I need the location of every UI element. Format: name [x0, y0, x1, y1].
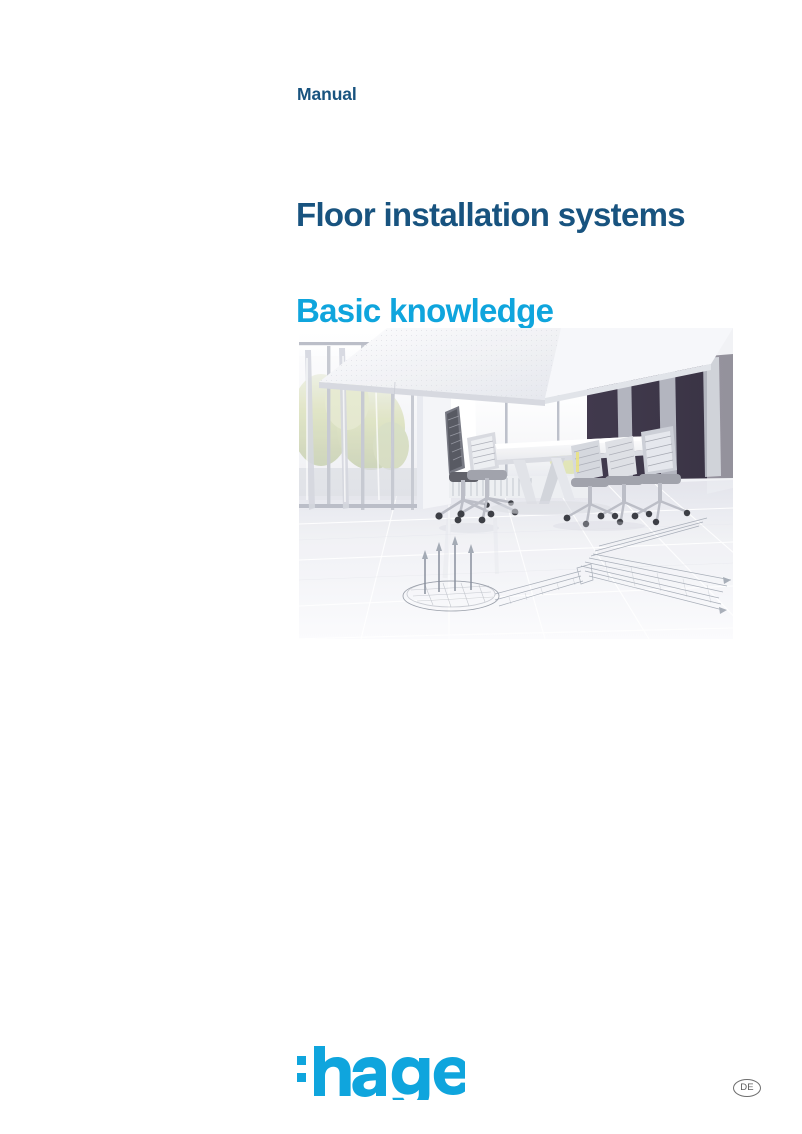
cover-image-illustration: 0%: [299, 328, 733, 639]
page-subtitle: Basic knowledge: [296, 292, 553, 330]
language-badge: DE: [733, 1079, 761, 1097]
cover-page: Manual Floor installation systems Basic …: [0, 0, 802, 1134]
document-kind-label: Manual: [297, 84, 357, 105]
hager-logo: [295, 1042, 465, 1100]
page-title: Floor installation systems: [296, 196, 685, 234]
cover-image: 0%: [299, 328, 733, 639]
hager-wordmark: [295, 1042, 465, 1100]
